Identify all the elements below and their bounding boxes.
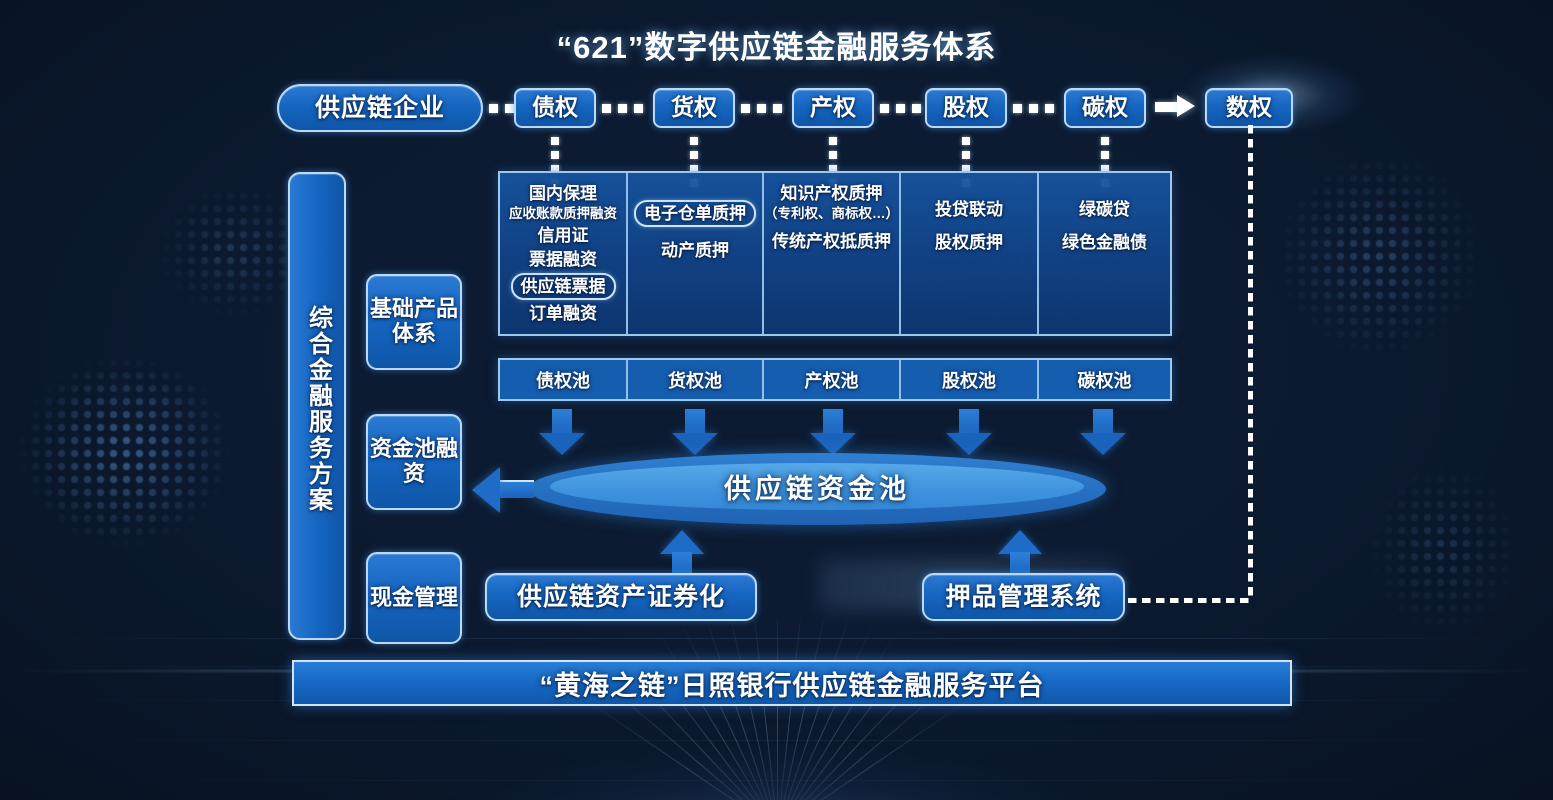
matrix-item: 绿碳贷 [1079,198,1130,221]
matrix-item-highlighted: 供应链票据 [511,273,616,300]
arrow-left-icon [472,467,534,513]
matrix-column-goods[interactable]: 电子仓单质押 动产质押 [628,173,764,334]
matrix-column-debt[interactable]: 国内保理 应收账款质押融资 信用证 票据融资 供应链票据 订单融资 [500,173,628,334]
page-title: “621”数字供应链金融服务体系 [0,22,1553,67]
chain-node-carbon[interactable]: 碳权 [1064,88,1146,128]
pool-cell-goods[interactable]: 货权池 [628,360,764,399]
fund-pool-label: 供应链资金池 [724,467,910,506]
matrix-item: 应收账款质押融资 [509,205,617,224]
chain-connector-dots [880,104,921,113]
chain-origin-supply-chain-enterprise[interactable]: 供应链企业 [277,84,483,132]
chain-node-property[interactable]: 产权 [792,88,874,128]
chain-connector-dots [741,104,782,113]
product-matrix: 国内保理 应收账款质押融资 信用证 票据融资 供应链票据 订单融资 电子仓单质押… [498,171,1172,336]
rights-pool-row: 债权池 货权池 产权池 股权池 碳权池 [498,358,1172,401]
sidebar-item-fund-pool-financing[interactable]: 资金池融资 [366,414,462,510]
chain-node-goods[interactable]: 货权 [653,88,735,128]
fund-pool-inner: 供应链资金池 [550,463,1084,510]
matrix-item: 绿色金融债 [1062,231,1147,254]
dashed-route-horizontal [1128,598,1252,603]
matrix-item: 知识产权质押 [781,182,883,205]
matrix-item: 股权质押 [935,231,1003,254]
sidebar-item-basic-product-system[interactable]: 基础产品体系 [366,274,462,370]
matrix-item: 信用证 [538,224,589,247]
chain-terminal-data-rights[interactable]: 数权 [1205,88,1293,128]
pool-cell-equity[interactable]: 股权池 [901,360,1039,399]
arrow-down-icon [672,409,718,455]
supply-chain-fund-pool[interactable]: 供应链资金池 [528,453,1106,525]
platform-banner: “黄海之链”日照银行供应链金融服务平台 [292,660,1292,706]
arrow-down-icon [810,409,856,455]
matrix-item: 票据融资 [529,248,597,271]
diagram-stage: “621”数字供应链金融服务体系 供应链企业 债权 货权 产权 股权 碳权 数权… [0,0,1553,800]
matrix-item: 国内保理 [529,182,597,205]
chain-connector-dots [1013,104,1054,113]
matrix-column-equity[interactable]: 投贷联动 股权质押 [901,173,1039,334]
sidebar-item-cash-management[interactable]: 现金管理 [366,552,462,644]
arrow-down-icon [1080,409,1126,455]
matrix-item: 订单融资 [529,302,597,325]
matrix-item-highlighted: 电子仓单质押 [634,200,756,227]
supply-chain-asset-securitization-box[interactable]: 供应链资产证券化 [485,573,757,621]
matrix-item: 动产质押 [661,239,729,262]
pool-cell-debt[interactable]: 债权池 [500,360,628,399]
chain-node-equity[interactable]: 股权 [925,88,1007,128]
matrix-column-carbon[interactable]: 绿碳贷 绿色金融债 [1039,173,1170,334]
pledge-management-system-box[interactable]: 押品管理系统 [922,573,1125,621]
matrix-item: 传统产权抵质押 [772,230,891,253]
chain-connector-dots [602,104,643,113]
arrow-down-icon [946,409,992,455]
matrix-item: （专利权、商标权…） [764,205,899,224]
matrix-item: 投贷联动 [935,198,1003,221]
sidebar-integrated-financial-service-plan[interactable]: 综合金融服务方案 [288,172,346,640]
arrow-up-icon [998,530,1042,578]
chain-connector-dots [489,104,514,113]
dashed-route-vertical [1248,125,1253,601]
arrow-down-icon [539,409,585,455]
pool-cell-carbon[interactable]: 碳权池 [1039,360,1170,399]
matrix-column-property[interactable]: 知识产权质押 （专利权、商标权…） 传统产权抵质押 [764,173,901,334]
chain-node-debt[interactable]: 债权 [514,88,596,128]
pool-cell-property[interactable]: 产权池 [764,360,901,399]
arrow-up-icon [660,530,704,578]
